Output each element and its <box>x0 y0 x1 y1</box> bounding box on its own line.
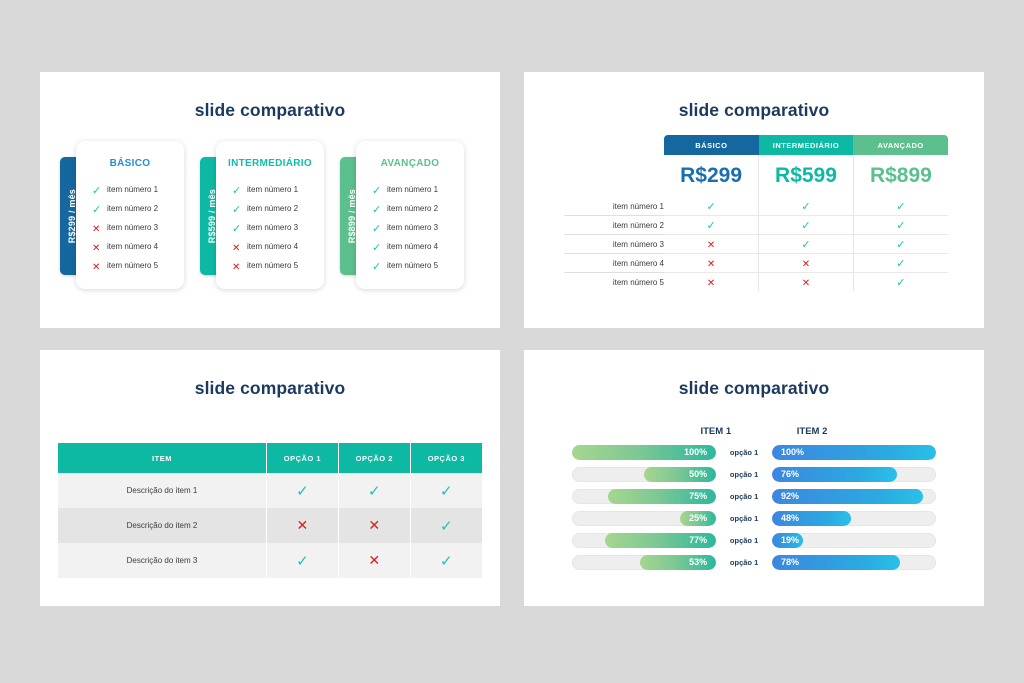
progress-value-left: 100% <box>675 447 716 457</box>
item-description: Descrição do item 3 <box>58 543 267 578</box>
matrix-price-spacer <box>564 155 664 197</box>
progress-value-left: 50% <box>680 469 716 479</box>
progress-bar-row: 25%opção 148% <box>572 507 936 529</box>
progress-bar-row: 75%opção 192% <box>572 485 936 507</box>
progress-option-label: opção 1 <box>716 558 772 567</box>
matrix-cell: ✓ <box>853 273 948 292</box>
progress-bar-row: 77%opção 119% <box>572 529 936 551</box>
progress-track-left[interactable]: 77% <box>572 533 716 548</box>
check-icon: ✓ <box>801 239 810 251</box>
feature-status: ✓ <box>372 239 387 255</box>
check-icon: ✓ <box>232 204 241 216</box>
check-icon: ✓ <box>896 277 905 289</box>
check-icon: ✓ <box>896 201 905 213</box>
progress-fill-left: 75% <box>608 489 716 504</box>
feature-row: ✕item número 5 <box>222 256 318 275</box>
feature-label: item número 1 <box>247 185 298 194</box>
feature-status: ✓ <box>232 220 247 236</box>
item-description: Descrição do item 2 <box>58 508 267 543</box>
progress-bar-row: 50%opção 176% <box>572 463 936 485</box>
cross-icon: ✕ <box>368 517 380 533</box>
matrix-cell: ✓ <box>853 197 948 216</box>
check-icon: ✓ <box>896 220 905 232</box>
column-header[interactable]: OPÇÃO 1 <box>267 443 339 473</box>
feature-status: ✓ <box>92 201 107 217</box>
check-icon: ✓ <box>92 185 101 197</box>
check-icon: ✓ <box>801 201 810 213</box>
feature-status: ✓ <box>232 182 247 198</box>
feature-status: ✓ <box>372 220 387 236</box>
pricing-matrix: BÁSICOINTERMEDIÁRIOAVANÇADOR$299R$599R$8… <box>524 135 984 291</box>
progress-fill-left: 53% <box>640 555 716 570</box>
feature-row: ✓item número 3 <box>222 218 318 237</box>
check-icon: ✓ <box>896 239 905 251</box>
feature-label: item número 1 <box>107 185 158 194</box>
feature-label: item número 4 <box>247 242 298 251</box>
option-cell: ✓ <box>267 473 339 508</box>
matrix-cell: ✕ <box>759 273 854 292</box>
cross-icon: ✕ <box>368 552 380 568</box>
feature-status: ✓ <box>92 182 107 198</box>
check-icon: ✓ <box>440 553 453 570</box>
progress-fill-right: 76% <box>772 467 897 482</box>
progress-track-right[interactable]: 19% <box>772 533 936 548</box>
table-row: item número 2✓✓✓ <box>564 216 948 235</box>
feature-label: item número 3 <box>387 223 438 232</box>
progress-track-right[interactable]: 76% <box>772 467 936 482</box>
feature-status: ✕ <box>232 258 247 274</box>
feature-label: item número 5 <box>387 261 438 270</box>
progress-fill-right: 92% <box>772 489 923 504</box>
cross-icon: ✕ <box>707 240 715 251</box>
progress-track-left[interactable]: 25% <box>572 511 716 526</box>
check-icon: ✓ <box>92 204 101 216</box>
page-title: slide comparativo <box>40 350 500 399</box>
feature-row: ✓item número 5 <box>362 256 458 275</box>
option-cell: ✓ <box>410 473 482 508</box>
page-title: slide comparativo <box>524 72 984 121</box>
progress-track-right[interactable]: 48% <box>772 511 936 526</box>
feature-label: item número 1 <box>387 185 438 194</box>
matrix-cell: ✓ <box>664 216 759 235</box>
matrix-column-header[interactable]: INTERMEDIÁRIO <box>759 135 854 155</box>
matrix-cell: ✓ <box>853 254 948 273</box>
progress-option-label: opção 1 <box>716 514 772 523</box>
matrix-cell: ✓ <box>664 197 759 216</box>
feature-row: ✕item número 5 <box>82 256 178 275</box>
cross-icon: ✕ <box>92 224 100 235</box>
progress-bar-group: ITEM 1 ITEM 2 100%opção 1100%50%opção 17… <box>524 421 984 573</box>
matrix-price: R$599 <box>759 155 854 197</box>
matrix-column-header[interactable]: BÁSICO <box>664 135 759 155</box>
feature-status: ✓ <box>372 201 387 217</box>
matrix-cell: ✕ <box>759 254 854 273</box>
progress-value-right: 92% <box>772 491 808 501</box>
matrix-cell: ✓ <box>853 235 948 254</box>
option-cell: ✓ <box>410 543 482 578</box>
slide-deck: slide comparativo R$299 / mêsBÁSICO✓item… <box>0 0 1024 683</box>
slide-option-table: slide comparativo ITEMOPÇÃO 1OPÇÃO 2OPÇÃ… <box>40 350 500 606</box>
slide-progress-bars: slide comparativo ITEM 1 ITEM 2 100%opçã… <box>524 350 984 606</box>
matrix-header-row: BÁSICOINTERMEDIÁRIOAVANÇADO <box>564 135 948 155</box>
matrix-cell: ✓ <box>759 197 854 216</box>
feature-status: ✕ <box>92 239 107 255</box>
feature-status: ✕ <box>92 220 107 236</box>
matrix-cell: ✓ <box>759 216 854 235</box>
feature-row: ✓item número 2 <box>362 199 458 218</box>
progress-value-right: 76% <box>772 469 808 479</box>
feature-label: item número 5 <box>107 261 158 270</box>
progress-bars-header: ITEM 1 ITEM 2 <box>572 421 936 437</box>
progress-bar-row: 100%opção 1100% <box>572 441 936 463</box>
progress-track-left[interactable]: 75% <box>572 489 716 504</box>
option-cell: ✓ <box>338 473 410 508</box>
table-row: Descrição do item 3✓✕✓ <box>58 543 482 578</box>
cross-icon: ✕ <box>802 278 810 289</box>
feature-label: item número 2 <box>247 204 298 213</box>
option-table-header-row: ITEMOPÇÃO 1OPÇÃO 2OPÇÃO 3 <box>58 443 482 473</box>
feature-row: ✓item número 3 <box>362 218 458 237</box>
progress-bar-row: 53%opção 178% <box>572 551 936 573</box>
feature-row: ✓item número 2 <box>222 199 318 218</box>
feature-label: item número 2 <box>107 204 158 213</box>
table-row: item número 3✕✓✓ <box>564 235 948 254</box>
progress-track-left[interactable]: 53% <box>572 555 716 570</box>
feature-status: ✓ <box>372 182 387 198</box>
matrix-row-label: item número 4 <box>564 254 664 273</box>
feature-row: ✓item número 1 <box>362 180 458 199</box>
matrix-column-header[interactable]: AVANÇADO <box>853 135 948 155</box>
feature-label: item número 3 <box>247 223 298 232</box>
cross-icon: ✕ <box>707 259 715 270</box>
progress-value-right: 100% <box>772 447 813 457</box>
feature-row: ✓item número 4 <box>362 237 458 256</box>
check-icon: ✓ <box>706 220 715 232</box>
progress-option-label: opção 1 <box>716 470 772 479</box>
check-icon: ✓ <box>440 518 453 535</box>
feature-row: ✕item número 4 <box>222 237 318 256</box>
plan-card-body: BÁSICO✓item número 1✓item número 2✕item … <box>76 141 184 289</box>
progress-value-left: 77% <box>680 535 716 545</box>
feature-label: item número 4 <box>107 242 158 251</box>
progress-fill-right: 100% <box>772 445 936 460</box>
matrix-cell: ✕ <box>664 273 759 292</box>
plan-card-body: INTERMEDIÁRIO✓item número 1✓item número … <box>216 141 324 289</box>
cross-icon: ✕ <box>92 243 100 254</box>
option-cell: ✓ <box>410 508 482 543</box>
check-icon: ✓ <box>372 223 381 235</box>
progress-track-left[interactable]: 50% <box>572 467 716 482</box>
matrix-cell: ✕ <box>664 254 759 273</box>
table-row: Descrição do item 2✕✕✓ <box>58 508 482 543</box>
progress-fill-left: 100% <box>572 445 716 460</box>
cross-icon: ✕ <box>92 262 100 273</box>
table-row: item número 5✕✕✓ <box>564 273 948 292</box>
check-icon: ✓ <box>232 223 241 235</box>
progress-value-right: 78% <box>772 557 808 567</box>
progress-fill-right: 78% <box>772 555 900 570</box>
option-cell: ✓ <box>267 543 339 578</box>
feature-status: ✓ <box>232 201 247 217</box>
check-icon: ✓ <box>440 483 453 500</box>
feature-status: ✓ <box>372 258 387 274</box>
progress-option-label: opção 1 <box>716 448 772 457</box>
plan-name: AVANÇADO <box>362 158 458 169</box>
table-row: item número 4✕✕✓ <box>564 254 948 273</box>
check-icon: ✓ <box>296 483 309 500</box>
progress-track-left[interactable]: 100% <box>572 445 716 460</box>
check-icon: ✓ <box>372 204 381 216</box>
progress-fill-left: 50% <box>644 467 716 482</box>
progress-option-label: opção 1 <box>716 492 772 501</box>
option-cell: ✕ <box>338 543 410 578</box>
matrix-price: R$299 <box>664 155 759 197</box>
feature-row: ✓item número 2 <box>82 199 178 218</box>
cross-icon: ✕ <box>232 243 240 254</box>
progress-fill-right: 19% <box>772 533 803 548</box>
check-icon: ✓ <box>896 258 905 270</box>
check-icon: ✓ <box>801 220 810 232</box>
plan-name: INTERMEDIÁRIO <box>222 158 318 169</box>
progress-fill-left: 25% <box>680 511 716 526</box>
item2-header: ITEM 2 <box>793 426 936 437</box>
cross-icon: ✕ <box>802 259 810 270</box>
option-cell: ✕ <box>267 508 339 543</box>
progress-value-right: 19% <box>772 535 808 545</box>
feature-status: ✕ <box>232 239 247 255</box>
column-header[interactable]: ITEM <box>58 443 267 473</box>
matrix-row-label: item número 5 <box>564 273 664 292</box>
feature-row: ✓item número 1 <box>222 180 318 199</box>
check-icon: ✓ <box>296 553 309 570</box>
matrix-cell: ✓ <box>759 235 854 254</box>
feature-label: item número 3 <box>107 223 158 232</box>
pricing-card-list: R$299 / mêsBÁSICO✓item número 1✓item núm… <box>40 141 500 301</box>
table-row: item número 1✓✓✓ <box>564 197 948 216</box>
matrix-corner-cell <box>564 135 664 155</box>
progress-value-left: 53% <box>680 557 716 567</box>
progress-track-right[interactable]: 92% <box>772 489 936 504</box>
page-title: slide comparativo <box>40 72 500 121</box>
check-icon: ✓ <box>232 185 241 197</box>
item1-header: ITEM 1 <box>572 426 731 437</box>
progress-value-left: 75% <box>680 491 716 501</box>
check-icon: ✓ <box>372 185 381 197</box>
progress-fill-left: 77% <box>605 533 716 548</box>
column-header[interactable]: OPÇÃO 2 <box>338 443 410 473</box>
matrix-cell: ✓ <box>853 216 948 235</box>
progress-fill-right: 48% <box>772 511 851 526</box>
check-icon: ✓ <box>372 242 381 254</box>
feature-row: ✕item número 4 <box>82 237 178 256</box>
feature-label: item número 5 <box>247 261 298 270</box>
matrix-row-label: item número 3 <box>564 235 664 254</box>
table-row: Descrição do item 1✓✓✓ <box>58 473 482 508</box>
feature-status: ✕ <box>92 258 107 274</box>
matrix-price-row: R$299R$599R$899 <box>564 155 948 197</box>
progress-bar-rows: 100%opção 1100%50%opção 176%75%opção 192… <box>572 441 936 573</box>
progress-track-right[interactable]: 100% <box>772 445 936 460</box>
option-table: ITEMOPÇÃO 1OPÇÃO 2OPÇÃO 3Descrição do it… <box>58 443 482 578</box>
item-description: Descrição do item 1 <box>58 473 267 508</box>
slide-pricing-matrix: slide comparativo BÁSICOINTERMEDIÁRIOAVA… <box>524 72 984 328</box>
feature-row: ✕item número 3 <box>82 218 178 237</box>
matrix-row-label: item número 2 <box>564 216 664 235</box>
cross-icon: ✕ <box>707 278 715 289</box>
pricing-matrix-table: BÁSICOINTERMEDIÁRIOAVANÇADOR$299R$599R$8… <box>564 135 948 291</box>
feature-row: ✓item número 1 <box>82 180 178 199</box>
progress-track-right[interactable]: 78% <box>772 555 936 570</box>
plan-card-body: AVANÇADO✓item número 1✓item número 2✓ite… <box>356 141 464 289</box>
check-icon: ✓ <box>372 261 381 273</box>
matrix-row-label: item número 1 <box>564 197 664 216</box>
plan-name: BÁSICO <box>82 158 178 169</box>
option-cell: ✕ <box>338 508 410 543</box>
column-header[interactable]: OPÇÃO 3 <box>410 443 482 473</box>
page-title: slide comparativo <box>524 350 984 399</box>
cross-icon: ✕ <box>297 517 309 533</box>
matrix-cell: ✕ <box>664 235 759 254</box>
progress-value-left: 25% <box>680 513 716 523</box>
progress-value-right: 48% <box>772 513 808 523</box>
cross-icon: ✕ <box>232 262 240 273</box>
progress-option-label: opção 1 <box>716 536 772 545</box>
check-icon: ✓ <box>368 483 381 500</box>
matrix-price: R$899 <box>853 155 948 197</box>
feature-label: item número 4 <box>387 242 438 251</box>
feature-label: item número 2 <box>387 204 438 213</box>
slide-pricing-cards: slide comparativo R$299 / mêsBÁSICO✓item… <box>40 72 500 328</box>
option-table-wrapper: ITEMOPÇÃO 1OPÇÃO 2OPÇÃO 3Descrição do it… <box>58 443 482 578</box>
check-icon: ✓ <box>706 201 715 213</box>
